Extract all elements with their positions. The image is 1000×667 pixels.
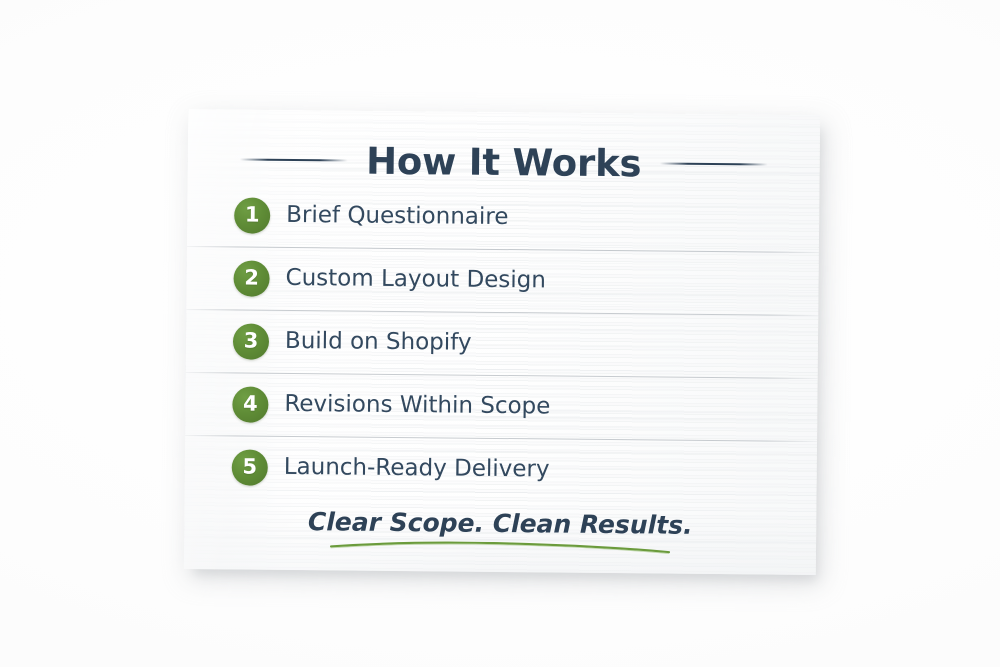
underline-swoosh-icon — [330, 540, 670, 555]
how-it-works-card: How It Works 1 Brief Questionnaire 2 Cus… — [184, 109, 820, 575]
card-content: How It Works 1 Brief Questionnaire 2 Cus… — [184, 109, 820, 575]
card-surface: How It Works 1 Brief Questionnaire 2 Cus… — [184, 109, 820, 575]
list-item[interactable]: 3 Build on Shopify — [186, 309, 819, 378]
step-label: Launch-Ready Delivery — [284, 456, 550, 482]
step-label: Revisions Within Scope — [284, 393, 550, 419]
step-label: Custom Layout Design — [285, 267, 546, 292]
list-item[interactable]: 1 Brief Questionnaire — [187, 183, 820, 252]
step-number-badge: 5 — [232, 449, 268, 485]
step-number-badge: 4 — [232, 386, 268, 422]
step-number-badge: 1 — [234, 197, 270, 233]
horizontal-rule-right-icon — [659, 163, 767, 166]
horizontal-rule-left-icon — [240, 158, 348, 161]
list-item[interactable]: 5 Launch-Ready Delivery — [184, 435, 817, 504]
step-number-badge: 2 — [233, 260, 269, 296]
tagline: Clear Scope. Clean Results. — [308, 509, 693, 538]
list-item[interactable]: 4 Revisions Within Scope — [185, 372, 818, 441]
step-number-badge: 3 — [233, 323, 269, 359]
steps-list: 1 Brief Questionnaire 2 Custom Layout De… — [184, 183, 819, 504]
step-label: Brief Questionnaire — [286, 204, 508, 229]
page-background: How It Works 1 Brief Questionnaire 2 Cus… — [0, 0, 1000, 667]
page-title: How It Works — [366, 142, 642, 182]
list-item[interactable]: 2 Custom Layout Design — [186, 246, 819, 315]
tagline-block: Clear Scope. Clean Results. — [184, 508, 816, 557]
step-label: Build on Shopify — [285, 330, 472, 355]
